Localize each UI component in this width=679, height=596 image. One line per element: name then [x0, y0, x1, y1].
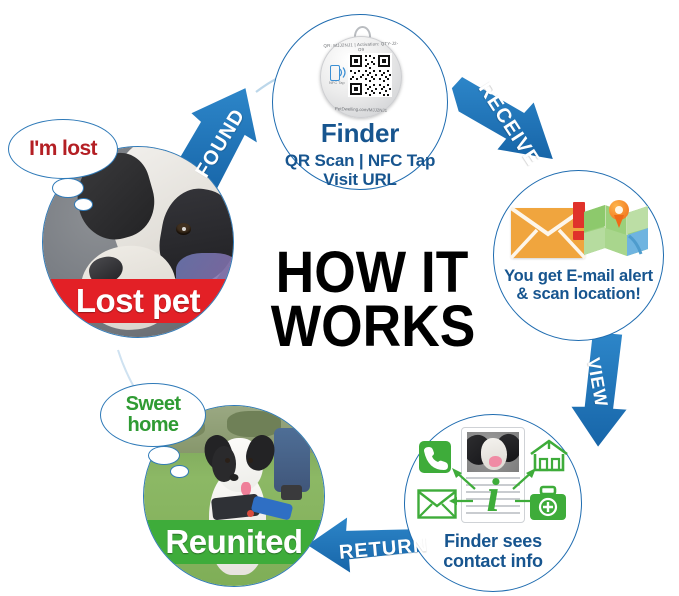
reunited-banner: Reunited: [144, 520, 324, 564]
lost-pet-bubble-text: I'm lost: [29, 138, 97, 160]
email-alert-caption: You get E-mail alert & scan location!: [494, 267, 663, 304]
title-line-2: WORKS: [271, 300, 473, 354]
bubble-dot-large: [52, 178, 84, 198]
email-alert-icon: [511, 202, 591, 258]
email-alert-line-2: & scan location!: [494, 285, 663, 303]
qr-code-icon: [348, 53, 392, 97]
finder-title: Finder: [273, 119, 447, 148]
lost-pet-thought-bubble: I'm lost: [8, 119, 118, 179]
home-icon: [529, 439, 569, 473]
envelope-icon: [417, 489, 457, 519]
reunited-bubble-line-1: Sweet: [126, 394, 181, 415]
node-contact-info[interactable]: i: [404, 414, 582, 592]
node-finder[interactable]: QR: MJJ2NJ1 | Activation: QTY-J2-O9: [272, 14, 448, 190]
page-title: HOW IT WORKS: [271, 246, 473, 354]
finder-subtitle-2: Visit URL: [273, 170, 447, 189]
reunited-bubble-line-2: home: [128, 415, 179, 436]
phone-icon: [419, 441, 451, 473]
infographic-canvas: Lost pet I'm lost QR: MJJ2NJ1 | Activati…: [0, 0, 679, 596]
lost-pet-banner: Lost pet: [43, 279, 233, 323]
contact-info-caption: Finder sees contact info: [405, 531, 581, 571]
pet-tag-icon: QR: MJJ2NJ1 | Activation: QTY-J2-O9: [316, 26, 404, 118]
bubble-dot-small: [74, 198, 93, 211]
finder-caption: Finder QR Scan | NFC Tap Visit URL: [273, 119, 447, 189]
first-aid-icon: [529, 487, 567, 521]
reunited-bubble-dot-large: [148, 446, 180, 465]
reunited-banner-label: Reunited: [165, 523, 302, 560]
email-alert-line-1: You get E-mail alert: [494, 267, 663, 285]
finder-subtitle-1: QR Scan | NFC Tap: [273, 151, 447, 170]
reunited-thought-bubble: Sweet home: [100, 383, 206, 447]
pet-tag-top-text: QR: MJJ2NJ1 | Activation: QTY-J2-O9: [321, 41, 401, 54]
lost-pet-banner-label: Lost pet: [76, 282, 200, 319]
title-line-1: HOW IT: [271, 246, 473, 300]
contact-info-line-2: contact info: [405, 551, 581, 571]
reunited-bubble-dot-small: [170, 465, 189, 478]
map-pin-icon: [583, 202, 649, 258]
pet-tag-bottom-text: PetDwelling.com/MJJ2NJ1: [321, 106, 401, 114]
node-email-alert[interactable]: You get E-mail alert & scan location!: [493, 170, 664, 341]
contact-info-line-1: Finder sees: [405, 531, 581, 551]
nfc-tap-icon: NFC Tap: [330, 65, 348, 87]
nfc-tap-label: NFC Tap: [329, 80, 345, 85]
